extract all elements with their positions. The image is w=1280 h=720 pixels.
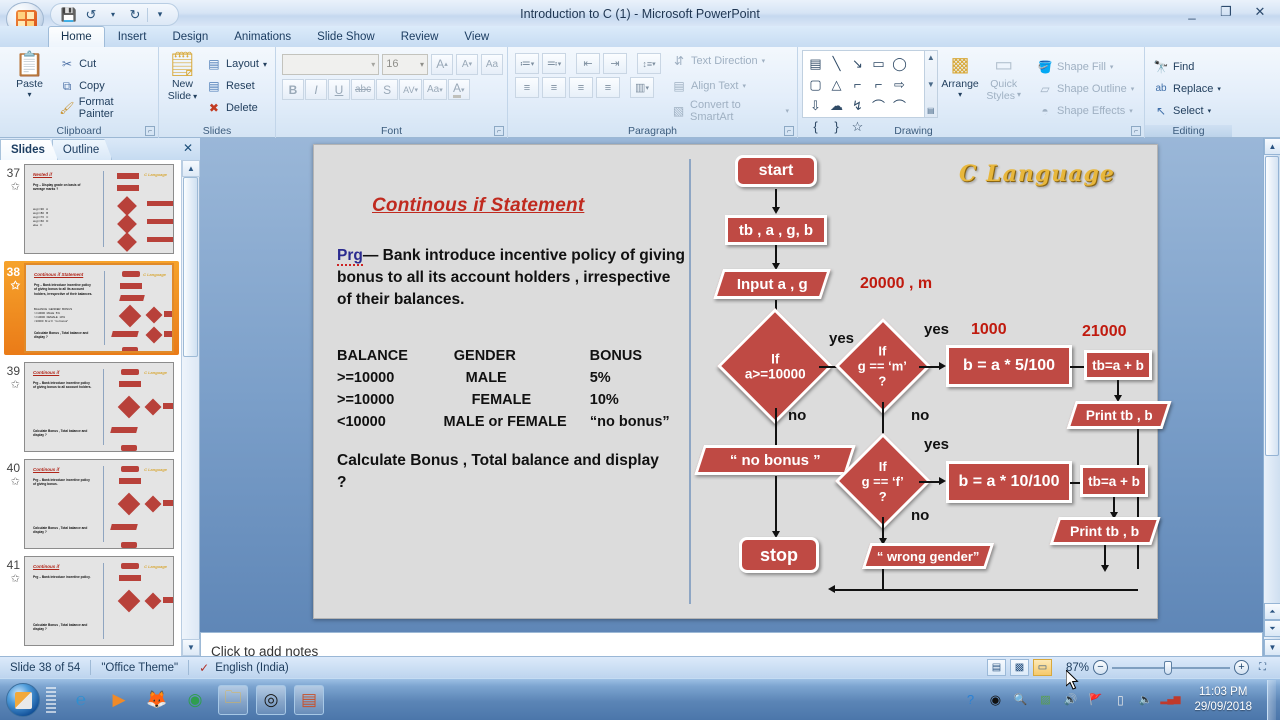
ribbon-tab-bar: Home Insert Design Animations Slide Show…: [0, 26, 1280, 48]
layout-dropdown-icon: ▾: [263, 60, 267, 69]
new-slide-button[interactable]: 🗒 New Slide ▾: [163, 50, 202, 102]
font-name-dropdown-icon: ▾: [371, 60, 375, 69]
shrink-font-button[interactable]: A▾: [456, 54, 478, 75]
table-row: <10000 MALE or FEMALE “no bonus”: [337, 411, 677, 433]
network-error-icon[interactable]: 🚩: [1086, 691, 1104, 709]
layout-icon: ▤: [206, 56, 222, 72]
slide-thumbnail-list[interactable]: 37 ✩ Nested if Prg – Display grade on ba…: [0, 160, 181, 656]
editing-group-label: Editing: [1145, 125, 1232, 137]
undo-icon[interactable]: ↺: [81, 5, 101, 24]
shape-right-arrow-icon[interactable]: ⇨: [889, 74, 910, 95]
smartart-icon: ▧: [671, 103, 686, 119]
header-balance: BALANCE: [337, 345, 444, 367]
grow-font-button[interactable]: A▴: [431, 54, 453, 75]
arrow-left-icon: [828, 585, 835, 593]
thumbnail-number: 39: [7, 364, 20, 378]
close-button[interactable]: ✕: [1244, 2, 1276, 22]
change-case-button[interactable]: Aa▾: [423, 79, 447, 100]
slide-scroll-up-icon[interactable]: ▲: [1264, 138, 1280, 155]
replace-label: Replace: [1173, 83, 1213, 95]
quick-access-toolbar: 💾 ↺ ▾ ↻ ▾: [50, 3, 179, 26]
align-text-label: Align Text: [691, 80, 739, 92]
shape-effects-icon: ◓: [1037, 103, 1053, 119]
ribbon-group-editing: 🔭 Find ab Replace ▾ ↖ Select ▾ Editing: [1144, 47, 1232, 138]
text-direction-icon: ⇵: [671, 53, 687, 69]
wordart-c-language[interactable]: C Language: [959, 161, 1115, 187]
font-color-button[interactable]: A▾: [448, 79, 470, 100]
tab-animations[interactable]: Animations: [221, 26, 304, 47]
thumbnail-number: 41: [7, 558, 20, 572]
scroll-up-icon[interactable]: ▲: [182, 160, 200, 177]
slides-pane-scrollbar[interactable]: ▲ ▼: [181, 160, 199, 656]
shape-outline-icon: ▱: [1037, 81, 1053, 97]
arrange-icon: ▩: [951, 52, 970, 78]
arrange-label: Arrange: [941, 78, 978, 90]
cell-gender: MALE: [444, 367, 590, 389]
shrink-font-icon: A: [462, 59, 469, 70]
paragraph-group-label: Paragraph: [508, 125, 797, 137]
ribbon: 📋 Paste ▾ ✂ Cut ⧉ Copy 🖌 Format P: [0, 47, 1280, 138]
clipboard-group-label: Clipboard: [0, 125, 158, 137]
taskbar-item-google-chrome[interactable]: ◉: [180, 685, 210, 715]
numbering-button[interactable]: ≕▾: [542, 53, 566, 74]
drawing-dialog-launcher[interactable]: ⌐: [1131, 126, 1141, 136]
slide-problem-statement[interactable]: Prg— Bank introduce incentive policy of …: [337, 245, 687, 311]
flowchart-bonus-male[interactable]: b = a * 5/100: [946, 345, 1072, 387]
arrow-down-icon: [1101, 565, 1109, 572]
table-header-row: BALANCE GENDER BONUS: [337, 345, 677, 367]
slides-pane: Slides Outline ✕ 37 ✩ Nested if Prg – Di…: [0, 138, 200, 656]
align-left-button[interactable]: ≡: [515, 77, 539, 98]
text-direction-button[interactable]: ⇵ Text Direction ▾: [667, 50, 793, 72]
label-no-1: no: [788, 407, 806, 424]
bullets-button[interactable]: ≔▾: [515, 53, 539, 74]
quick-styles-dropdown-icon: ▾: [1017, 90, 1021, 102]
layout-button[interactable]: ▤ Layout ▾: [202, 53, 271, 75]
font-group-label: Font: [276, 125, 507, 137]
flowchart-total-male[interactable]: tb=a + b: [1084, 350, 1152, 380]
taskbar-item-windows-media-player[interactable]: ▶: [104, 685, 134, 715]
align-text-button[interactable]: ▤ Align Text ▾: [667, 75, 793, 97]
shape-rectangle-icon[interactable]: ▭: [868, 53, 889, 74]
taskbar-item-internet-explorer[interactable]: ℮: [66, 685, 96, 715]
cell-balance: >=10000: [337, 389, 444, 411]
zoom-in-button[interactable]: +: [1234, 660, 1249, 675]
annotation-bonus-value: 1000: [971, 321, 1007, 339]
animation-star-icon: ✩: [4, 180, 20, 193]
flowchart-bonus-female[interactable]: b = a * 10/100: [946, 461, 1072, 503]
slide-thumbnail[interactable]: Continous if Statement Prg – Bank introd…: [24, 263, 174, 353]
cell-bonus: “no bonus”: [590, 411, 677, 433]
annotation-total-value: 21000: [1082, 323, 1127, 341]
justify-button[interactable]: ≡: [596, 77, 620, 98]
flowchart-total-female[interactable]: tb=a + b: [1080, 465, 1148, 497]
undo-dropdown-icon[interactable]: ▾: [103, 5, 123, 24]
sound-icon[interactable]: 🔈: [1136, 691, 1154, 709]
spell-check-icon: ✓: [199, 661, 209, 675]
thumbnail-number: 37: [7, 166, 20, 180]
quick-styles-button[interactable]: ▭ Quick Styles ▾: [982, 50, 1025, 102]
tab-slides[interactable]: Slides: [0, 139, 58, 160]
italic-button[interactable]: I: [305, 79, 327, 100]
new-slide-dropdown-icon: ▾: [193, 92, 197, 101]
table-row: >=10000 MALE 5%: [337, 367, 677, 389]
shape-rounded-rect-icon[interactable]: ▢: [805, 74, 826, 95]
columns-icon: ▥: [635, 81, 645, 94]
minimize-button[interactable]: _: [1176, 2, 1208, 22]
zoom-slider-handle[interactable]: [1164, 661, 1172, 675]
new-slide-label-2: Slide: [168, 90, 191, 102]
maximize-button[interactable]: ❐: [1210, 2, 1242, 22]
status-slide-info: Slide 38 of 54: [0, 657, 90, 679]
arrange-button[interactable]: ▩ Arrange ▾: [938, 50, 983, 99]
find-button[interactable]: 🔭 Find: [1149, 56, 1225, 78]
taskbar-item-windows-explorer[interactable]: 🗀: [218, 685, 248, 715]
flowchart-declare[interactable]: tb , a , g, b: [725, 215, 827, 245]
slide-area-scrollbar[interactable]: ▲ ⏶ ⏷ ▼: [1263, 138, 1280, 656]
increase-indent-button[interactable]: ⇥: [603, 53, 627, 74]
slide-divider-line: [689, 159, 691, 604]
snip-tray-icon[interactable]: ▨: [1036, 691, 1054, 709]
shapes-gallery[interactable]: ▤ ╲ ↘ ▭ ◯ ▢ △ ⌐ ⌐ ⇨ ⇩ ☁ ↯ ⌒ ⌒ { }: [802, 50, 925, 118]
shape-scribble-icon[interactable]: ↯: [847, 95, 868, 116]
list-item[interactable]: 37 ✩ Nested if Prg – Display grade on ba…: [4, 164, 179, 254]
paragraph-dialog-launcher[interactable]: ⌐: [784, 126, 794, 136]
list-item[interactable]: 38 ✩ Continous if Statement Prg – Bank i…: [4, 261, 179, 355]
slide-title[interactable]: Continous if Statement: [372, 195, 584, 217]
underline-button[interactable]: U: [328, 79, 350, 100]
font-color-icon: A: [453, 81, 461, 98]
replace-button[interactable]: ab Replace ▾: [1149, 78, 1225, 100]
close-pane-icon[interactable]: ✕: [183, 141, 193, 155]
align-right-button[interactable]: ≡: [569, 77, 593, 98]
table-row: >=10000 FEMALE 10%: [337, 389, 677, 411]
decrease-indent-button[interactable]: ⇤: [576, 53, 600, 74]
grow-font-icon: A: [436, 57, 444, 71]
shape-outline-label: Shape Outline: [1057, 83, 1127, 95]
new-slide-icon: 🗒: [167, 52, 197, 78]
format-painter-label: Format Painter: [79, 96, 150, 120]
connector-wrong-return: [882, 569, 884, 591]
shape-effects-label: Shape Effects: [1057, 105, 1125, 117]
shape-elbow-connector-icon[interactable]: ⌐: [847, 74, 868, 95]
return-bus-line: [835, 589, 1138, 591]
taskbar-item-microsoft-powerpoint[interactable]: ▤: [294, 685, 324, 715]
taskbar-item-obs-studio[interactable]: ◎: [256, 685, 286, 715]
shape-fill-label: Shape Fill: [1057, 61, 1106, 73]
shape-cloud-icon[interactable]: ☁: [826, 95, 847, 116]
connector-start-declare: [775, 189, 777, 209]
delete-label: Delete: [226, 102, 258, 114]
convert-smartart-button[interactable]: ▧ Convert to SmartArt ▾: [667, 100, 793, 122]
cell-gender: FEMALE: [444, 389, 590, 411]
slide-thumbnail[interactable]: Nested if Prg – Display grade on basis o…: [24, 164, 174, 254]
reset-button[interactable]: ▤ Reset: [202, 75, 271, 97]
label-no-3: no: [911, 507, 929, 524]
shape-textbox-icon[interactable]: ▤: [805, 53, 826, 74]
header-bonus: BONUS: [590, 345, 677, 367]
animation-star-icon: ✩: [4, 279, 20, 292]
paintbrush-icon: 🖌: [59, 100, 75, 116]
slide-thumbnail[interactable]: Continous if Prg – Bank introduce incent…: [24, 362, 174, 452]
flowchart-wrong-gender[interactable]: “ wrong gender”: [862, 543, 994, 569]
previous-slide-icon[interactable]: ⏶: [1264, 603, 1280, 620]
flowchart-stop[interactable]: stop: [739, 537, 819, 573]
prg-label: Prg: [337, 247, 363, 266]
label-yes-2: yes: [924, 321, 949, 338]
cell-balance: <10000: [337, 411, 443, 433]
thumbnail-number: 38: [7, 265, 20, 279]
cell-bonus: 10%: [590, 389, 677, 411]
paste-button[interactable]: 📋 Paste ▾: [4, 50, 55, 99]
next-slide-icon[interactable]: ⏷: [1264, 620, 1280, 637]
quick-styles-label-2: Styles: [986, 90, 1015, 102]
signal-icon[interactable]: ▂▄▆: [1161, 691, 1179, 709]
arrange-dropdown-icon: ▾: [958, 90, 962, 99]
shadow-button[interactable]: S: [376, 79, 398, 100]
clear-formatting-button[interactable]: Aa: [481, 54, 503, 75]
flowchart-input[interactable]: Input a , g: [713, 269, 831, 299]
ribbon-group-slides: 🗒 New Slide ▾ ▤ Layout ▾ ▤ Reset: [158, 47, 275, 138]
delete-icon: ✖: [206, 100, 222, 116]
label-yes-3: yes: [924, 436, 949, 453]
bullets-icon: ≔: [520, 57, 531, 70]
character-spacing-icon: AV: [403, 85, 414, 95]
slide-thumbnail[interactable]: Continous if Prg – Bank introduce incent…: [24, 556, 174, 646]
flowchart-start[interactable]: start: [735, 155, 817, 187]
prg-text: — Bank introduce incentive policy of giv…: [337, 247, 685, 308]
font-size-value: 16: [386, 58, 398, 70]
redo-icon[interactable]: ↻: [125, 5, 145, 24]
flowchart-print-female[interactable]: Print tb , b: [1049, 517, 1160, 545]
cut-button[interactable]: ✂ Cut: [55, 53, 154, 75]
reset-icon: ▤: [206, 78, 222, 94]
font-dialog-launcher[interactable]: ⌐: [494, 126, 504, 136]
cell-bonus: 5%: [590, 367, 677, 389]
shape-line-icon[interactable]: ╲: [826, 53, 847, 74]
copy-button[interactable]: ⧉ Copy: [55, 75, 154, 97]
shape-arrow-icon[interactable]: ↘: [847, 53, 868, 74]
zoom-slider[interactable]: [1112, 661, 1230, 675]
connector-decision2-bonus: [919, 366, 941, 368]
copy-label: Copy: [79, 80, 105, 92]
tab-home[interactable]: Home: [48, 26, 105, 47]
select-label: Select: [1173, 105, 1204, 117]
windows-logo-icon: [15, 692, 32, 709]
animation-star-icon: ✩: [4, 378, 20, 391]
new-slide-label-1: New: [172, 78, 193, 90]
ribbon-group-clipboard: 📋 Paste ▾ ✂ Cut ⧉ Copy 🖌 Format P: [0, 47, 158, 138]
mouse-cursor-icon: [1066, 670, 1082, 692]
columns-button[interactable]: ▥▾: [630, 77, 654, 98]
ribbon-group-paragraph: ≔▾ ≕▾ ⇤ ⇥ ↕≡▾ ≡ ≡ ≡ ≡ ▥▾: [507, 47, 797, 138]
paste-dropdown-icon: ▾: [28, 90, 32, 99]
cell-balance: >=10000: [337, 367, 444, 389]
bold-button[interactable]: B: [282, 79, 304, 100]
tab-view[interactable]: View: [451, 26, 502, 47]
label-no-2: no: [911, 407, 929, 424]
customize-qat-icon[interactable]: ▾: [150, 5, 170, 24]
arrow-right-icon: [939, 362, 946, 370]
align-text-icon: ▤: [671, 78, 687, 94]
slide-scroll-down-icon[interactable]: ▼: [1264, 639, 1280, 656]
tab-review[interactable]: Review: [388, 26, 452, 47]
line-spacing-button[interactable]: ↕≡▾: [637, 53, 661, 74]
animation-star-icon: ✩: [4, 572, 20, 585]
font-size-dropdown-icon: ▾: [420, 60, 424, 69]
shape-fill-button[interactable]: 🪣 Shape Fill ▾: [1033, 56, 1138, 78]
clock-time: 11:03 PM: [1194, 685, 1252, 700]
arrow-down-icon: [772, 207, 780, 214]
gallery-scroll-up-icon[interactable]: ▲: [927, 53, 935, 62]
slides-group-label: Slides: [159, 125, 275, 137]
paste-label: Paste: [16, 78, 43, 90]
list-item[interactable]: 40 ✩ Continous if Prg – Bank introduce i…: [4, 459, 179, 549]
animation-star-icon: ✩: [4, 475, 20, 488]
status-language[interactable]: ✓ English (India): [189, 657, 299, 679]
format-painter-button[interactable]: 🖌 Format Painter: [55, 97, 154, 119]
shape-arc-icon[interactable]: ⌒: [889, 95, 910, 116]
slide-thumbnail[interactable]: Continous if Prg – Bank introduce incent…: [24, 459, 174, 549]
connector-decision3-bonus: [919, 481, 941, 483]
zoom-out-button[interactable]: −: [1093, 660, 1108, 675]
view-normal-button[interactable]: ▤: [987, 659, 1006, 676]
connector-print-male-return: [1137, 429, 1139, 569]
clear-formatting-icon: Aa: [486, 59, 498, 70]
quick-styles-icon: ▭: [994, 52, 1013, 78]
taskbar: ℮ ▶ 🦊 ◉ 🗀 ◎ ▤ ? ◉ 🔍 ▨ 🔊 🚩 ▯ 🔈 ▂▄▆ 11:03 …: [0, 678, 1280, 720]
ribbon-group-drawing: ▤ ╲ ↘ ▭ ◯ ▢ △ ⌐ ⌐ ⇨ ⇩ ☁ ↯ ⌒ ⌒ { }: [797, 47, 1029, 138]
align-center-button[interactable]: ≡: [542, 77, 566, 98]
shape-effects-button[interactable]: ◓ Shape Effects ▾: [1033, 100, 1138, 122]
cell-gender: MALE or FEMALE: [443, 411, 609, 433]
bonus-table[interactable]: BALANCE GENDER BONUS >=10000 MALE 5% >=1…: [337, 345, 677, 433]
gallery-expand-icon[interactable]: ▤: [927, 106, 935, 115]
system-tray: ? ◉ 🔍 ▨ 🔊 🚩 ▯ 🔈 ▂▄▆ 11:03 PM 29/09/2018: [961, 680, 1280, 720]
shape-down-arrow-icon[interactable]: ⇩: [805, 95, 826, 116]
obs-tray-icon[interactable]: ◉: [986, 691, 1004, 709]
thumbnail-number: 40: [7, 461, 20, 475]
shape-outline-button[interactable]: ▱ Shape Outline ▾: [1033, 78, 1138, 100]
delete-slide-button[interactable]: ✖ Delete: [202, 97, 271, 119]
gallery-scroll-down-icon[interactable]: ▼: [927, 80, 935, 89]
status-theme[interactable]: "Office Theme": [91, 657, 188, 679]
battery-icon[interactable]: ▯: [1111, 691, 1129, 709]
slide-editing-area: Continous if Statement Prg— Bank introdu…: [200, 138, 1280, 656]
volume-tray-icon[interactable]: 🔊: [1061, 691, 1079, 709]
list-item[interactable]: 41 ✩ Continous if Prg – Bank introduce i…: [4, 556, 179, 646]
qat-divider: [147, 8, 148, 22]
text-direction-label: Text Direction: [691, 55, 758, 67]
status-language-label: English (India): [215, 662, 289, 674]
drawing-group-label: Drawing: [798, 125, 1029, 137]
strikethrough-button[interactable]: abc: [351, 79, 375, 100]
shape-curve-icon[interactable]: ⌒: [868, 95, 889, 116]
slides-pane-tabs: Slides Outline ✕: [0, 138, 200, 160]
start-button[interactable]: [6, 683, 40, 717]
line-spacing-icon: ↕≡: [642, 59, 652, 69]
pointer-icon: ↖: [1153, 103, 1169, 119]
change-case-icon: Aa: [427, 84, 439, 95]
arrow-right-icon: [939, 477, 946, 485]
taskbar-grip[interactable]: [46, 687, 56, 713]
taskbar-items: ℮ ▶ 🦊 ◉ 🗀 ◎ ▤: [66, 685, 324, 715]
flowchart-decision-balance[interactable]: If a>=10000: [717, 308, 833, 424]
font-name-input[interactable]: ▾: [282, 54, 379, 75]
taskbar-clock[interactable]: 11:03 PM 29/09/2018: [1186, 685, 1260, 715]
numbering-icon: ≕: [547, 57, 558, 70]
view-slide-sorter-button[interactable]: ▩: [1010, 659, 1029, 676]
scroll-down-icon[interactable]: ▼: [182, 639, 200, 656]
status-bar: Slide 38 of 54 "Office Theme" ✓ English …: [0, 656, 1280, 678]
slide-task-text[interactable]: Calculate Bonus , Total balance and disp…: [337, 450, 667, 494]
window-title: Introduction to C (1) - Microsoft PowerP…: [0, 0, 1280, 28]
layout-label: Layout: [226, 58, 259, 70]
connector-nobonus-stop: [775, 476, 777, 534]
list-item[interactable]: 39 ✩ Continous if Prg – Bank introduce i…: [4, 362, 179, 452]
tab-design[interactable]: Design: [159, 26, 221, 47]
status-right-group: ▤ ▩ ▭ 87% − + ⛶: [987, 659, 1280, 676]
window-controls: _ ❐ ✕: [1176, 2, 1276, 22]
ribbon-group-font: ▾ 16 ▾ A▴ A▾ Aa B I U abc S AV▾: [275, 47, 507, 138]
shape-fill-icon: 🪣: [1037, 59, 1053, 75]
ribbon-group-shape-styles: 🪣 Shape Fill ▾ ▱ Shape Outline ▾ ◓ Shape…: [1029, 47, 1144, 138]
scissors-icon: ✂: [59, 56, 75, 72]
taskbar-item-mozilla-firefox[interactable]: 🦊: [142, 685, 172, 715]
search-tray-icon[interactable]: 🔍: [1011, 691, 1029, 709]
view-slide-show-button[interactable]: ▭: [1033, 659, 1052, 676]
annotation-input-values: 20000 , m: [860, 275, 932, 293]
cut-label: Cut: [79, 58, 96, 70]
show-desktop-button[interactable]: [1267, 680, 1276, 720]
shape-triangle-icon[interactable]: △: [826, 74, 847, 95]
binoculars-icon: 🔭: [1153, 59, 1169, 75]
tab-slide-show[interactable]: Slide Show: [304, 26, 388, 47]
copy-icon: ⧉: [59, 78, 75, 94]
save-icon[interactable]: 💾: [59, 5, 79, 24]
shapes-gallery-scrollbar[interactable]: ▲ ▼ ▤: [925, 50, 938, 118]
font-size-input[interactable]: 16 ▾: [382, 54, 428, 75]
tab-outline[interactable]: Outline: [52, 139, 112, 160]
reset-label: Reset: [226, 80, 255, 92]
tab-insert[interactable]: Insert: [105, 26, 160, 47]
fit-slide-to-window-button[interactable]: ⛶: [1253, 659, 1272, 676]
scrollbar-thumb[interactable]: [183, 177, 198, 357]
convert-smartart-label: Convert to SmartArt: [690, 99, 781, 123]
label-yes-1: yes: [829, 330, 854, 347]
flowchart-print-male[interactable]: Print tb , b: [1066, 401, 1171, 429]
shape-oval-icon[interactable]: ◯: [889, 53, 910, 74]
replace-icon: ab: [1153, 81, 1169, 97]
select-button[interactable]: ↖ Select ▾: [1149, 100, 1225, 122]
slide-scrollbar-thumb[interactable]: [1265, 156, 1279, 456]
clock-date: 29/09/2018: [1194, 700, 1252, 715]
quick-styles-label-1: Quick: [990, 78, 1017, 90]
find-label: Find: [1173, 61, 1194, 73]
paste-icon: 📋: [15, 52, 45, 78]
clipboard-dialog-launcher[interactable]: ⌐: [145, 126, 155, 136]
character-spacing-button[interactable]: AV▾: [399, 79, 422, 100]
shape-elbow-arrow-icon[interactable]: ⌐: [868, 74, 889, 95]
connector-decision1-nobonus: [775, 408, 777, 450]
flowchart-no-bonus[interactable]: “ no bonus ”: [694, 445, 856, 475]
help-icon[interactable]: ?: [961, 691, 979, 709]
header-gender: GENDER: [444, 345, 590, 367]
current-slide[interactable]: Continous if Statement Prg— Bank introdu…: [313, 144, 1158, 619]
